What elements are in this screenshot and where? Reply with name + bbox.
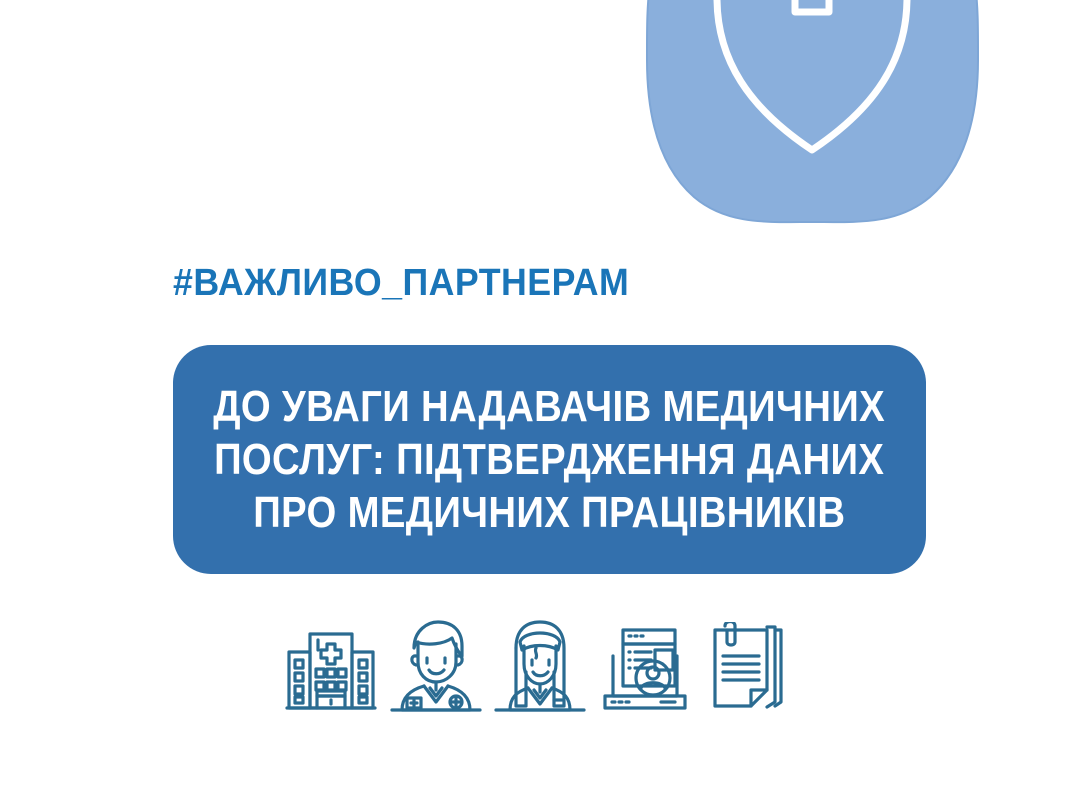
title-banner: ДО УВАГИ НАДАВАЧІВ МЕДИЧНИХ ПОСЛУГ: ПІДТ…: [173, 345, 926, 574]
laptop-profile-icon: [599, 616, 691, 714]
hashtag-label: #ВАЖЛИВО_ПАРТНЕРАМ: [173, 262, 629, 305]
title-line-1: ДО УВАГИ НАДАВАЧІВ МЕДИЧНИХ: [214, 380, 886, 433]
title-line-3: ПРО МЕДИЧНИХ ПРАЦІВНИКІВ: [253, 486, 845, 539]
female-nurse-icon: [494, 616, 586, 714]
logo-blob-shape: [647, 0, 978, 222]
hospital-building-icon: [285, 616, 377, 714]
title-line-2: ПОСЛУГ: ПІДТВЕРДЖЕННЯ ДАНИХ: [214, 433, 884, 486]
documents-icon: [703, 616, 795, 714]
medical-shield-logo: [645, 0, 980, 225]
icon-strip: [285, 614, 795, 714]
male-doctor-icon: [390, 616, 482, 714]
